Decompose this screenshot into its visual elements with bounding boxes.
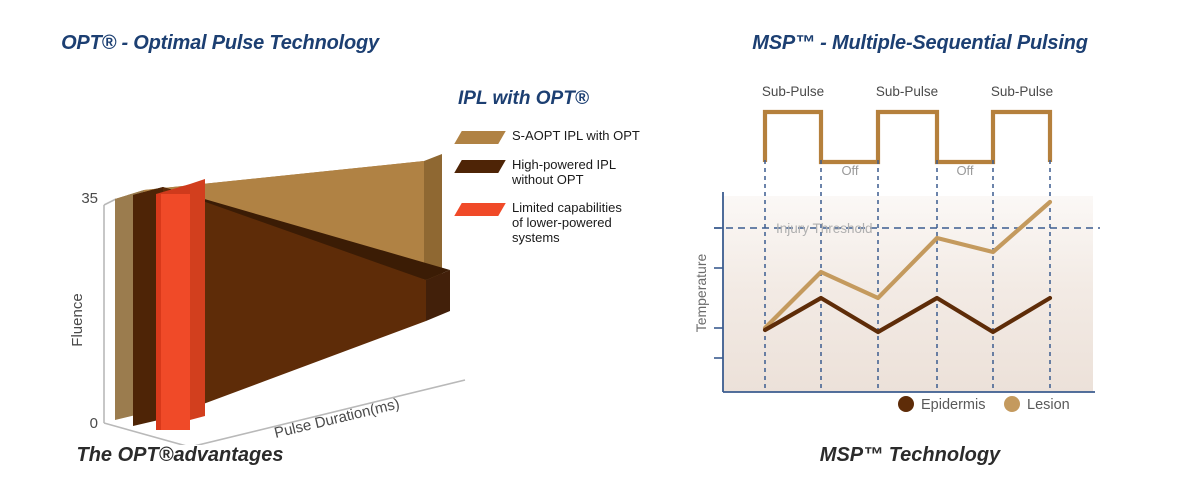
key-dot-epidermis bbox=[898, 396, 914, 412]
sub-pulse-label-3: Sub-Pulse bbox=[991, 84, 1053, 99]
opt-y-max-label: 35 bbox=[81, 190, 98, 207]
key-label-epidermis: Epidermis bbox=[921, 397, 985, 413]
injury-threshold-label: Injury Threshold bbox=[776, 221, 873, 236]
msp-y-ticks bbox=[714, 228, 723, 358]
legend-swatch-limited bbox=[454, 203, 506, 216]
opt-panel: OPT® - Optimal Pulse Technology bbox=[0, 0, 600, 492]
opt-y-min-label: 0 bbox=[90, 415, 98, 432]
opt-3d-chart: 35 0 0 Fluence Pulse Duration(ms) bbox=[60, 75, 470, 445]
sub-pulse-label-1: Sub-Pulse bbox=[762, 84, 824, 99]
opt-panel-caption: The OPT®advantages bbox=[0, 444, 480, 467]
key-dot-lesion bbox=[1004, 396, 1020, 412]
off-label-1: Off bbox=[841, 163, 858, 178]
bar-limited bbox=[156, 179, 205, 430]
opt-panel-title: OPT® - Optimal Pulse Technology bbox=[0, 32, 520, 55]
pulse-train bbox=[765, 112, 1050, 162]
legend-swatch-highpower bbox=[454, 160, 506, 173]
legend-swatch-saopt bbox=[454, 131, 506, 144]
msp-panel: MSP™ - Multiple-Sequential Pulsing Sub-P… bbox=[600, 0, 1200, 492]
opt-x-axis-label: Pulse Duration(ms) bbox=[273, 395, 402, 441]
sub-pulse-label-2: Sub-Pulse bbox=[876, 84, 938, 99]
msp-chart: Sub-Pulse Sub-Pulse Sub-Pulse Off Off bbox=[600, 0, 1200, 492]
msp-y-axis-label: Temperature bbox=[693, 253, 709, 332]
msp-panel-caption: MSP™ Technology bbox=[610, 444, 1200, 467]
opt-y-axis-label: Fluence bbox=[69, 293, 86, 346]
off-label-2: Off bbox=[956, 163, 973, 178]
key-label-lesion: Lesion bbox=[1027, 397, 1070, 413]
msp-key: Epidermis Lesion bbox=[898, 396, 1070, 413]
